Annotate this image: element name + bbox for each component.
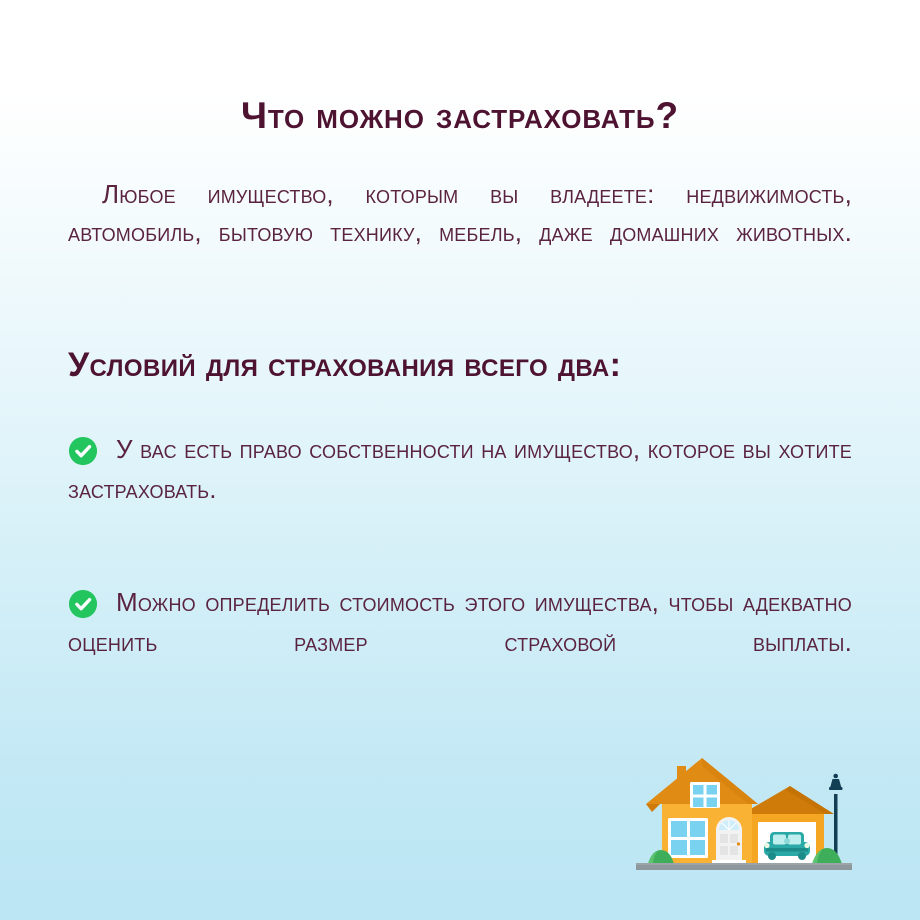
slide-canvas: Что можно застраховать? Любое имущество,… [0, 0, 920, 920]
list-item-label: Можно определить стоимость этого имущест… [68, 583, 852, 702]
list-item: У вас есть право собственности на имущес… [68, 430, 852, 549]
car-shape [764, 832, 810, 860]
content-column: Что можно застраховать? Любое имущество,… [68, 0, 852, 702]
list-item: Можно определить стоимость этого имущест… [68, 583, 852, 702]
house-with-car-illustration [630, 752, 860, 884]
section-subtitle: Условий для страхования всего два: [68, 290, 852, 384]
lead-paragraph: Любое имущество, которым вы владеете: не… [68, 137, 852, 290]
list-item-label: У вас есть право собственности на имущес… [68, 430, 852, 549]
page-title: Что можно застраховать? [68, 0, 852, 137]
check-circle-icon [68, 589, 98, 619]
check-circle-icon [68, 436, 98, 466]
conditions-list: У вас есть право собственности на имущес… [68, 384, 852, 701]
